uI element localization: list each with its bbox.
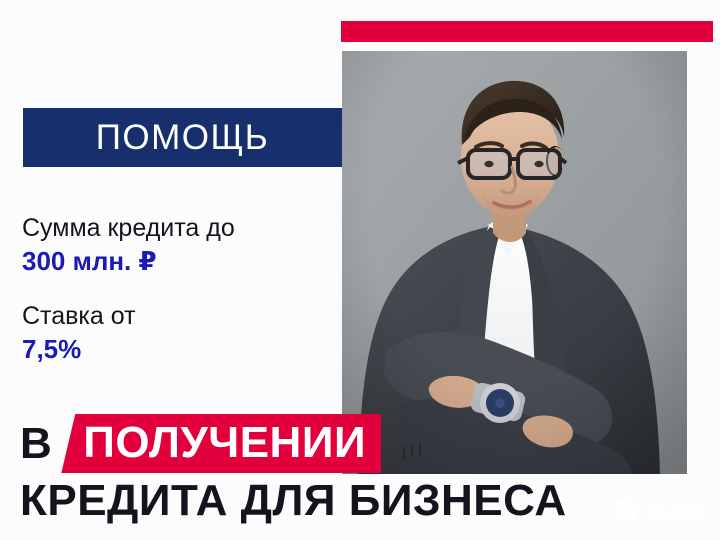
offer-item-rate: Ставка от 7,5% <box>22 300 332 366</box>
headline-highlight-box: ПОЛУЧЕНИИ <box>61 414 381 473</box>
offer-label: Сумма кредита до <box>22 212 332 245</box>
headline-highlight-text: ПОЛУЧЕНИИ <box>83 418 366 467</box>
headline-prefix: В <box>20 422 52 466</box>
label-band-text: ПОМОЩЬ <box>96 120 270 155</box>
offer-list: Сумма кредита до 300 млн. ₽ Ставка от 7,… <box>22 212 332 367</box>
offer-label: Ставка от <box>22 300 332 333</box>
portrait-photo <box>342 51 687 474</box>
top-red-rule <box>341 21 713 42</box>
offer-item-amount: Сумма кредита до 300 млн. ₽ <box>22 212 332 278</box>
label-band: ПОМОЩЬ <box>23 108 342 167</box>
headline-line-2: КРЕДИТА ДЛЯ БИЗНЕСА <box>20 479 567 523</box>
headline: В ПОЛУЧЕНИИ КРЕДИТА ДЛЯ БИЗНЕСА <box>0 413 720 533</box>
offer-value: 7,5% <box>22 333 332 366</box>
headline-line-1: В ПОЛУЧЕНИИ <box>20 413 381 474</box>
offer-value: 300 млн. ₽ <box>22 245 332 278</box>
ad-banner: ПОМОЩЬ Сумма кредита до 300 млн. ₽ Ставк… <box>0 0 720 540</box>
